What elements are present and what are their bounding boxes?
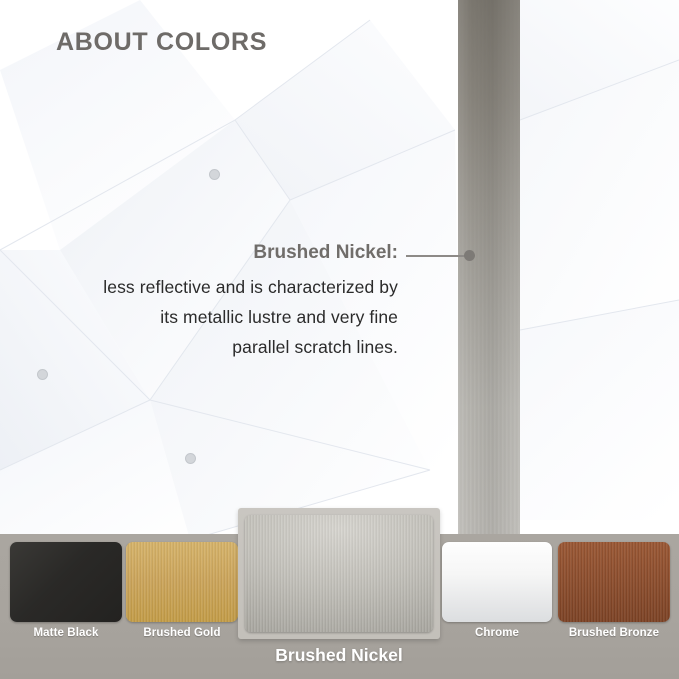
callout-leader-dot	[464, 250, 475, 261]
callout-leader-line	[406, 255, 470, 257]
nickel-strip-sheen	[458, 0, 520, 536]
swatch-label-brushed-bronze: Brushed Bronze	[558, 627, 670, 639]
callout-body-line-2: its metallic lustre and very fine	[40, 302, 398, 332]
decor-dot	[185, 453, 196, 464]
brushed-nickel-sample-strip	[458, 0, 520, 536]
callout-title: Brushed Nickel:	[40, 240, 398, 266]
decor-dot	[209, 169, 220, 180]
callout-body-line-3: parallel scratch lines.	[40, 332, 398, 362]
swatch-chip-brushed-gold[interactable]	[126, 542, 238, 622]
swatch-label-matte-black: Matte Black	[10, 627, 122, 639]
swatch-chip-brushed-bronze[interactable]	[558, 542, 670, 622]
swatch-label-brushed-gold: Brushed Gold	[126, 627, 238, 639]
swatch-item-matte-black[interactable]: Matte Black	[10, 542, 122, 639]
callout-body: less reflective and is characterized by …	[40, 272, 398, 362]
swatch-label-chrome: Chrome	[442, 627, 552, 639]
swatch-item-brushed-bronze[interactable]: Brushed Bronze	[558, 542, 670, 639]
decor-dot	[37, 369, 48, 380]
callout-text-block: Brushed Nickel: less reflective and is c…	[40, 240, 398, 362]
swatch-label-brushed-nickel: Brushed Nickel	[238, 645, 440, 666]
about-colors-infographic: ABOUT COLORS Brushed Nickel: less reflec…	[0, 0, 679, 679]
swatch-item-chrome[interactable]: Chrome	[442, 542, 552, 639]
swatch-chip-chrome[interactable]	[442, 542, 552, 622]
page-title: ABOUT COLORS	[56, 28, 267, 57]
swatch-chip-brushed-nickel[interactable]	[245, 515, 433, 632]
swatch-chip-matte-black[interactable]	[10, 542, 122, 622]
swatch-item-brushed-gold[interactable]: Brushed Gold	[126, 542, 238, 639]
callout-body-line-1: less reflective and is characterized by	[40, 272, 398, 302]
swatch-item-brushed-nickel-selected[interactable]	[238, 508, 440, 639]
